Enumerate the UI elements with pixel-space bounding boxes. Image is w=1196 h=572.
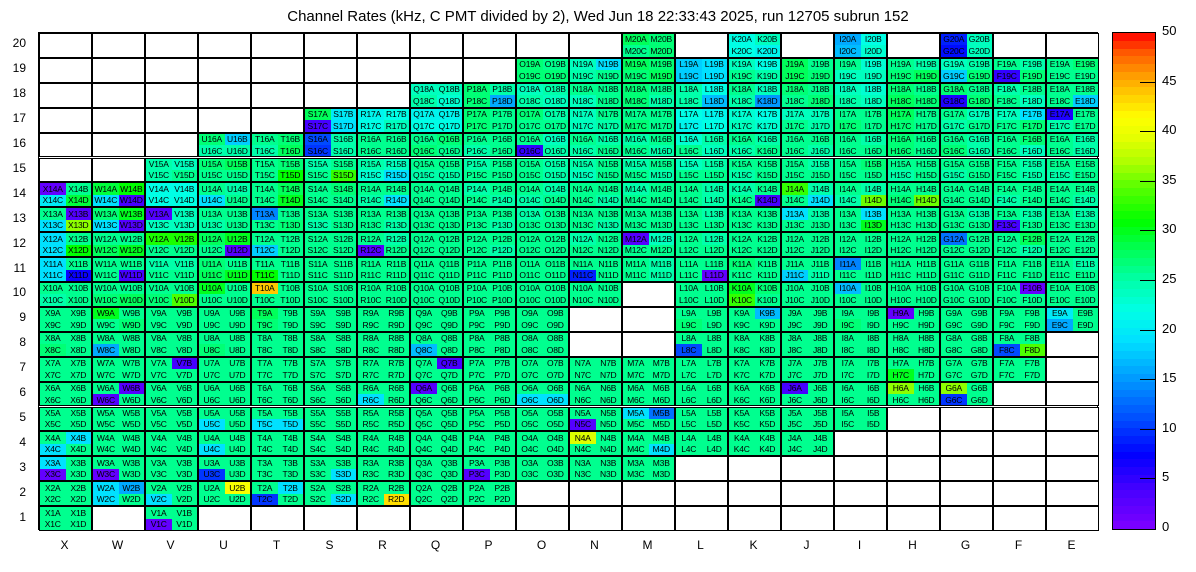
channel-T7C[interactable]: T7C (252, 369, 278, 380)
channel-X8D[interactable]: X8D (66, 344, 92, 355)
channel-K18D[interactable]: K18D (755, 95, 781, 106)
heatmap-cell-I11[interactable]: I11AI11BI11CI11D (834, 257, 887, 282)
channel-P9B[interactable]: P9B (490, 308, 516, 319)
heatmap-cell-L8[interactable]: L8AL8BL8CL8D (675, 332, 728, 357)
heatmap-cell-X12[interactable]: X12AX12BX12CX12D (39, 232, 92, 257)
channel-S17D[interactable]: S17D (331, 120, 357, 131)
channel-E9C[interactable]: E9C (1047, 319, 1073, 330)
channel-H11D[interactable]: H11D (914, 270, 940, 281)
channel-Q12B[interactable]: Q12B (437, 233, 463, 244)
channel-S14B[interactable]: S14B (331, 183, 357, 194)
channel-T16A[interactable]: T16A (252, 134, 278, 145)
channel-E14C[interactable]: E14C (1047, 195, 1073, 206)
channel-R3C[interactable]: R3C (358, 469, 384, 480)
channel-M19C[interactable]: M19C (623, 70, 649, 81)
channel-S15D[interactable]: S15D (331, 170, 357, 181)
channel-X1D[interactable]: X1D (66, 519, 92, 530)
channel-H19D[interactable]: H19D (914, 70, 940, 81)
channel-O9D[interactable]: O9D (543, 319, 569, 330)
heatmap-cell-X14[interactable]: X14AX14BX14CX14D (39, 182, 92, 207)
channel-P16B[interactable]: P16B (490, 134, 516, 145)
channel-U8C[interactable]: U8C (199, 344, 225, 355)
channel-V8D[interactable]: V8D (172, 344, 198, 355)
channel-U16B[interactable]: U16B (225, 134, 251, 145)
heatmap-cell-Q15[interactable]: Q15AQ15BQ15CQ15D (410, 158, 463, 183)
channel-R2C[interactable]: R2C (358, 494, 384, 505)
channel-O6B[interactable]: O6B (543, 383, 569, 394)
channel-L17A[interactable]: L17A (676, 109, 702, 120)
channel-L9B[interactable]: L9B (702, 308, 728, 319)
channel-Q6C[interactable]: Q6C (411, 394, 437, 405)
channel-U12B[interactable]: U12B (225, 233, 251, 244)
heatmap-cell-N3[interactable]: N3AN3BN3CN3D (569, 456, 622, 481)
channel-T16D[interactable]: T16D (278, 145, 304, 156)
channel-V3C[interactable]: V3C (146, 469, 172, 480)
channel-P13C[interactable]: P13C (464, 220, 490, 231)
channel-P12D[interactable]: P12D (490, 245, 516, 256)
channel-P8D[interactable]: P8D (490, 344, 516, 355)
channel-X3C[interactable]: X3C (40, 469, 66, 480)
channel-O14C[interactable]: O14C (517, 195, 543, 206)
channel-O4C[interactable]: O4C (517, 444, 543, 455)
channel-E10A[interactable]: E10A (1047, 283, 1073, 294)
channel-J13B[interactable]: J13B (808, 208, 834, 219)
channel-X13D[interactable]: X13D (66, 220, 92, 231)
channel-F12B[interactable]: F12B (1020, 233, 1046, 244)
channel-J4B[interactable]: J4B (808, 432, 834, 443)
heatmap-cell-J17[interactable]: J17AJ17BJ17CJ17D (781, 108, 834, 133)
channel-I13A[interactable]: I13A (835, 208, 861, 219)
channel-K5C[interactable]: K5C (729, 419, 755, 430)
channel-M6A[interactable]: M6A (623, 383, 649, 394)
channel-V11D[interactable]: V11D (172, 270, 198, 281)
heatmap-cell-E3[interactable] (1046, 456, 1099, 481)
channel-Q18B[interactable]: Q18B (437, 84, 463, 95)
channel-H15D[interactable]: H15D (914, 170, 940, 181)
channel-W2A[interactable]: W2A (93, 482, 119, 493)
channel-M11A[interactable]: M11A (623, 258, 649, 269)
channel-H11B[interactable]: H11B (914, 258, 940, 269)
channel-W7C[interactable]: W7C (93, 369, 119, 380)
channel-V14A[interactable]: V14A (146, 183, 172, 194)
channel-V5A[interactable]: V5A (146, 408, 172, 419)
heatmap-cell-S17[interactable]: S17AS17BS17CS17D (304, 108, 357, 133)
channel-I10D[interactable]: I10D (861, 294, 887, 305)
channel-K15B[interactable]: K15B (755, 159, 781, 170)
heatmap-cell-V8[interactable]: V8AV8BV8CV8D (145, 332, 198, 357)
channel-S2C[interactable]: S2C (305, 494, 331, 505)
heatmap-cell-V1[interactable]: V1AV1BV1CV1D (145, 506, 198, 531)
channel-X11D[interactable]: X11D (66, 270, 92, 281)
channel-P10D[interactable]: P10D (490, 294, 516, 305)
channel-L7C[interactable]: L7C (676, 369, 702, 380)
channel-X11B[interactable]: X11B (66, 258, 92, 269)
channel-W14A[interactable]: W14A (93, 183, 119, 194)
heatmap-cell-I5[interactable]: I5AI5BI5CI5D (834, 407, 887, 432)
heatmap-cell-X9[interactable]: X9AX9BX9CX9D (39, 307, 92, 332)
heatmap-cell-T14[interactable]: T14AT14BT14CT14D (251, 182, 304, 207)
heatmap-cell-I2[interactable] (834, 481, 887, 506)
heatmap-cell-P11[interactable]: P11AP11BP11CP11D (463, 257, 516, 282)
channel-T15A[interactable]: T15A (252, 159, 278, 170)
heatmap-cell-X20[interactable] (39, 33, 92, 58)
channel-I5C[interactable]: I5C (835, 419, 861, 430)
heatmap-cell-L11[interactable]: L11AL11BL11CL11D (675, 257, 728, 282)
channel-M20B[interactable]: M20B (649, 34, 675, 45)
channel-V15C[interactable]: V15C (146, 170, 172, 181)
channel-T2B[interactable]: T2B (278, 482, 304, 493)
heatmap-cell-W9[interactable]: W9AW9BW9CW9D (92, 307, 145, 332)
heatmap-cell-O16[interactable]: O16AO16BO16CO16D (516, 133, 569, 158)
channel-G18C[interactable]: G18C (941, 95, 967, 106)
channel-K4D[interactable]: K4D (755, 444, 781, 455)
channel-O11C[interactable]: O11C (517, 270, 543, 281)
channel-I8A[interactable]: I8A (835, 333, 861, 344)
channel-L5B[interactable]: L5B (702, 408, 728, 419)
channel-N18B[interactable]: N18B (596, 84, 622, 95)
channel-M7A[interactable]: M7A (623, 358, 649, 369)
channel-O5A[interactable]: O5A (517, 408, 543, 419)
channel-I7B[interactable]: I7B (861, 358, 887, 369)
channel-T3B[interactable]: T3B (278, 457, 304, 468)
channel-J6A[interactable]: J6A (782, 383, 808, 394)
channel-O11A[interactable]: O11A (517, 258, 543, 269)
channel-J12D[interactable]: J12D (808, 245, 834, 256)
channel-M15A[interactable]: M15A (623, 159, 649, 170)
channel-J19D[interactable]: J19D (808, 70, 834, 81)
channel-P14B[interactable]: P14B (490, 183, 516, 194)
heatmap-cell-S7[interactable]: S7AS7BS7CS7D (304, 357, 357, 382)
heatmap-cell-L13[interactable]: L13AL13BL13CL13D (675, 207, 728, 232)
channel-S17A[interactable]: S17A (305, 109, 331, 120)
channel-F19C[interactable]: F19C (994, 70, 1020, 81)
channel-Q2A[interactable]: Q2A (411, 482, 437, 493)
channel-U9C[interactable]: U9C (199, 319, 225, 330)
channel-G14C[interactable]: G14C (941, 195, 967, 206)
heatmap-cell-F18[interactable]: F18AF18BF18CF18D (993, 83, 1046, 108)
channel-O13A[interactable]: O13A (517, 208, 543, 219)
heatmap-cell-H4[interactable] (887, 431, 940, 456)
channel-M6B[interactable]: M6B (649, 383, 675, 394)
channel-J11D[interactable]: J11D (808, 270, 834, 281)
channel-T14D[interactable]: T14D (278, 195, 304, 206)
channel-W8B[interactable]: W8B (119, 333, 145, 344)
channel-X11C[interactable]: X11C (40, 270, 66, 281)
channel-X8C[interactable]: X8C (40, 344, 66, 355)
heatmap-cell-R18[interactable] (357, 83, 410, 108)
channel-R10D[interactable]: R10D (384, 294, 410, 305)
channel-U8D[interactable]: U8D (225, 344, 251, 355)
channel-J5A[interactable]: J5A (782, 408, 808, 419)
channel-I17A[interactable]: I17A (835, 109, 861, 120)
channel-Q2C[interactable]: Q2C (411, 494, 437, 505)
channel-V4B[interactable]: V4B (172, 432, 198, 443)
heatmap-cell-G16[interactable]: G16AG16BG16CG16D (940, 133, 993, 158)
channel-Q14C[interactable]: Q14C (411, 195, 437, 206)
channel-F17B[interactable]: F17B (1020, 109, 1046, 120)
channel-G12C[interactable]: G12C (941, 245, 967, 256)
channel-O8D[interactable]: O8D (543, 344, 569, 355)
channel-Q9D[interactable]: Q9D (437, 319, 463, 330)
heatmap-cell-T3[interactable]: T3AT3BT3CT3D (251, 456, 304, 481)
channel-T10B[interactable]: T10B (278, 283, 304, 294)
channel-W2B[interactable]: W2B (119, 482, 145, 493)
channel-R6D[interactable]: R6D (384, 394, 410, 405)
channel-G20D[interactable]: G20D (967, 45, 993, 56)
channel-H6C[interactable]: H6C (888, 394, 914, 405)
heatmap-cell-I18[interactable]: I18AI18BI18CI18D (834, 83, 887, 108)
channel-I5A[interactable]: I5A (835, 408, 861, 419)
channel-Q13D[interactable]: Q13D (437, 220, 463, 231)
channel-R17A[interactable]: R17A (358, 109, 384, 120)
heatmap-cell-S6[interactable]: S6AS6BS6CS6D (304, 382, 357, 407)
channel-M3D[interactable]: M3D (649, 469, 675, 480)
channel-S8D[interactable]: S8D (331, 344, 357, 355)
heatmap-cell-X5[interactable]: X5AX5BX5CX5D (39, 407, 92, 432)
channel-G9D[interactable]: G9D (967, 319, 993, 330)
heatmap-cell-G17[interactable]: G17AG17BG17CG17D (940, 108, 993, 133)
heatmap-cell-X6[interactable]: X6AX6BX6CX6D (39, 382, 92, 407)
channel-G20A[interactable]: G20A (941, 34, 967, 45)
channel-K18C[interactable]: K18C (729, 95, 755, 106)
heatmap-cell-G2[interactable] (940, 481, 993, 506)
channel-N3A[interactable]: N3A (570, 457, 596, 468)
channel-H8B[interactable]: H8B (914, 333, 940, 344)
heatmap-cell-H18[interactable]: H18AH18BH18CH18D (887, 83, 940, 108)
heatmap-cell-L17[interactable]: L17AL17BL17CL17D (675, 108, 728, 133)
channel-O7D[interactable]: O7D (543, 369, 569, 380)
channel-T9B[interactable]: T9B (278, 308, 304, 319)
channel-G17C[interactable]: G17C (941, 120, 967, 131)
channel-E11C[interactable]: E11C (1047, 270, 1073, 281)
channel-U9B[interactable]: U9B (225, 308, 251, 319)
heatmap-cell-R15[interactable]: R15AR15BR15CR15D (357, 158, 410, 183)
channel-F7B[interactable]: F7B (1020, 358, 1046, 369)
channel-M19D[interactable]: M19D (649, 70, 675, 81)
heatmap-cell-T5[interactable]: T5AT5BT5CT5D (251, 407, 304, 432)
channel-W4C[interactable]: W4C (93, 444, 119, 455)
channel-I15D[interactable]: I15D (861, 170, 887, 181)
channel-Q2B[interactable]: Q2B (437, 482, 463, 493)
channel-V7B[interactable]: V7B (172, 358, 198, 369)
channel-X7C[interactable]: X7C (40, 369, 66, 380)
channel-X11A[interactable]: X11A (40, 258, 66, 269)
channel-I9D[interactable]: I9D (861, 319, 887, 330)
channel-X5B[interactable]: X5B (66, 408, 92, 419)
channel-N6D[interactable]: N6D (596, 394, 622, 405)
heatmap-cell-G19[interactable]: G19AG19BG19CG19D (940, 58, 993, 83)
channel-Q4B[interactable]: Q4B (437, 432, 463, 443)
channel-U2B[interactable]: U2B (225, 482, 251, 493)
channel-U16C[interactable]: U16C (199, 145, 225, 156)
channel-N3C[interactable]: N3C (570, 469, 596, 480)
channel-P14D[interactable]: P14D (490, 195, 516, 206)
channel-I11A[interactable]: I11A (835, 258, 861, 269)
channel-M19A[interactable]: M19A (623, 59, 649, 70)
heatmap-cell-R2[interactable]: R2AR2BR2CR2D (357, 481, 410, 506)
channel-Q12A[interactable]: Q12A (411, 233, 437, 244)
heatmap-cell-M10[interactable] (622, 282, 675, 307)
channel-I16A[interactable]: I16A (835, 134, 861, 145)
channel-M17A[interactable]: M17A (623, 109, 649, 120)
channel-U14D[interactable]: U14D (225, 195, 251, 206)
channel-S10A[interactable]: S10A (305, 283, 331, 294)
heatmap-cell-F7[interactable]: F7AF7BF7CF7D (993, 357, 1046, 382)
channel-X2A[interactable]: X2A (40, 482, 66, 493)
channel-J17C[interactable]: J17C (782, 120, 808, 131)
channel-P6C[interactable]: P6C (464, 394, 490, 405)
channel-M5B[interactable]: M5B (649, 408, 675, 419)
heatmap-cell-E11[interactable]: E11AE11BE11CE11D (1046, 257, 1099, 282)
channel-X3D[interactable]: X3D (66, 469, 92, 480)
heatmap-cell-O18[interactable]: O18AO18BO18CO18D (516, 83, 569, 108)
channel-I12A[interactable]: I12A (835, 233, 861, 244)
channel-N14C[interactable]: N14C (570, 195, 596, 206)
channel-S11A[interactable]: S11A (305, 258, 331, 269)
heatmap-cell-O12[interactable]: O12AO12BO12CO12D (516, 232, 569, 257)
channel-K8D[interactable]: K8D (755, 344, 781, 355)
heatmap-cell-H19[interactable]: H19AH19BH19CH19D (887, 58, 940, 83)
channel-P18D[interactable]: P18D (490, 95, 516, 106)
channel-F9B[interactable]: F9B (1020, 308, 1046, 319)
channel-W12A[interactable]: W12A (93, 233, 119, 244)
channel-X10D[interactable]: X10D (66, 294, 92, 305)
heatmap-cell-V15[interactable]: V15AV15BV15CV15D (145, 158, 198, 183)
channel-I8B[interactable]: I8B (861, 333, 887, 344)
channel-H13A[interactable]: H13A (888, 208, 914, 219)
heatmap-cell-X10[interactable]: X10AX10BX10CX10D (39, 282, 92, 307)
channel-I16D[interactable]: I16D (861, 145, 887, 156)
heatmap-cell-L14[interactable]: L14AL14BL14CL14D (675, 182, 728, 207)
heatmap-cell-X3[interactable]: X3AX3BX3CX3D (39, 456, 92, 481)
heatmap-cell-M13[interactable]: M13AM13BM13CM13D (622, 207, 675, 232)
channel-G15B[interactable]: G15B (967, 159, 993, 170)
channel-J18D[interactable]: J18D (808, 95, 834, 106)
channel-I13B[interactable]: I13B (861, 208, 887, 219)
channel-I15B[interactable]: I15B (861, 159, 887, 170)
heatmap-cell-T6[interactable]: T6AT6BT6CT6D (251, 382, 304, 407)
heatmap-cell-E16[interactable]: E16AE16BE16CE16D (1046, 133, 1099, 158)
heatmap-cell-M19[interactable]: M19AM19BM19CM19D (622, 58, 675, 83)
channel-M11D[interactable]: M11D (649, 270, 675, 281)
heatmap-cell-K17[interactable]: K17AK17BK17CK17D (728, 108, 781, 133)
channel-V6C[interactable]: V6C (146, 394, 172, 405)
heatmap-cell-F6[interactable] (993, 382, 1046, 407)
channel-O4A[interactable]: O4A (517, 432, 543, 443)
channel-Q8C[interactable]: Q8C (411, 344, 437, 355)
channel-F7A[interactable]: F7A (994, 358, 1020, 369)
channel-J18A[interactable]: J18A (782, 84, 808, 95)
channel-S12A[interactable]: S12A (305, 233, 331, 244)
channel-T2C[interactable]: T2C (252, 494, 278, 505)
heatmap-cell-T18[interactable] (251, 83, 304, 108)
heatmap-cell-U17[interactable] (198, 108, 251, 133)
heatmap-cell-O11[interactable]: O11AO11BO11CO11D (516, 257, 569, 282)
channel-G14A[interactable]: G14A (941, 183, 967, 194)
channel-W13B[interactable]: W13B (119, 208, 145, 219)
channel-L4B[interactable]: L4B (702, 432, 728, 443)
heatmap-cell-J15[interactable]: J15AJ15BJ15CJ15D (781, 158, 834, 183)
heatmap-cell-W5[interactable]: W5AW5BW5CW5D (92, 407, 145, 432)
channel-U4A[interactable]: U4A (199, 432, 225, 443)
channel-M14D[interactable]: M14D (649, 195, 675, 206)
channel-N6B[interactable]: N6B (596, 383, 622, 394)
channel-F8D[interactable]: F8D (1020, 344, 1046, 355)
heatmap-cell-I12[interactable]: I12AI12BI12CI12D (834, 232, 887, 257)
channel-W7B[interactable]: W7B (119, 358, 145, 369)
channel-E19B[interactable]: E19B (1073, 59, 1099, 70)
channel-F19B[interactable]: F19B (1020, 59, 1046, 70)
channel-F15C[interactable]: F15C (994, 170, 1020, 181)
channel-N5D[interactable]: N5D (596, 419, 622, 430)
channel-K16B[interactable]: K16B (755, 134, 781, 145)
channel-X14D[interactable]: X14D (66, 195, 92, 206)
heatmap-cell-M2[interactable] (622, 481, 675, 506)
channel-I20B[interactable]: I20B (861, 34, 887, 45)
channel-K6B[interactable]: K6B (755, 383, 781, 394)
channel-L4A[interactable]: L4A (676, 432, 702, 443)
channel-U4B[interactable]: U4B (225, 432, 251, 443)
heatmap-cell-O6[interactable]: O6AO6BO6CO6D (516, 382, 569, 407)
channel-K11C[interactable]: K11C (729, 270, 755, 281)
channel-H16D[interactable]: H16D (914, 145, 940, 156)
heatmap-cell-M12[interactable]: M12AM12BM12CM12D (622, 232, 675, 257)
channel-I17D[interactable]: I17D (861, 120, 887, 131)
channel-X10A[interactable]: X10A (40, 283, 66, 294)
heatmap-cell-R1[interactable] (357, 506, 410, 531)
channel-L14B[interactable]: L14B (702, 183, 728, 194)
channel-V8A[interactable]: V8A (146, 333, 172, 344)
heatmap-cell-H12[interactable]: H12AH12BH12CH12D (887, 232, 940, 257)
channel-P9C[interactable]: P9C (464, 319, 490, 330)
channel-K17B[interactable]: K17B (755, 109, 781, 120)
channel-Q3A[interactable]: Q3A (411, 457, 437, 468)
heatmap-cell-V18[interactable] (145, 83, 198, 108)
channel-Q3C[interactable]: Q3C (411, 469, 437, 480)
channel-J17D[interactable]: J17D (808, 120, 834, 131)
channel-H18A[interactable]: H18A (888, 84, 914, 95)
channel-L17D[interactable]: L17D (702, 120, 728, 131)
heatmap-cell-J9[interactable]: J9AJ9BJ9CJ9D (781, 307, 834, 332)
channel-P7C[interactable]: P7C (464, 369, 490, 380)
heatmap-cell-X4[interactable]: X4AX4BX4CX4D (39, 431, 92, 456)
channel-K5D[interactable]: K5D (755, 419, 781, 430)
channel-R2B[interactable]: R2B (384, 482, 410, 493)
channel-U10D[interactable]: U10D (225, 294, 251, 305)
channel-G10C[interactable]: G10C (941, 294, 967, 305)
heatmap-cell-U16[interactable]: U16AU16BU16CU16D (198, 133, 251, 158)
channel-V7C[interactable]: V7C (146, 369, 172, 380)
channel-H7C[interactable]: H7C (888, 369, 914, 380)
channel-J12C[interactable]: J12C (782, 245, 808, 256)
channel-M12C[interactable]: M12C (623, 245, 649, 256)
channel-K19B[interactable]: K19B (755, 59, 781, 70)
channel-G6B[interactable]: G6B (967, 383, 993, 394)
heatmap-cell-N6[interactable]: N6AN6BN6CN6D (569, 382, 622, 407)
channel-H12D[interactable]: H12D (914, 245, 940, 256)
channel-S16C[interactable]: S16C (305, 145, 331, 156)
channel-P9A[interactable]: P9A (464, 308, 490, 319)
channel-L18A[interactable]: L18A (676, 84, 702, 95)
channel-L13A[interactable]: L13A (676, 208, 702, 219)
channel-O12C[interactable]: O12C (517, 245, 543, 256)
channel-E14B[interactable]: E14B (1073, 183, 1099, 194)
channel-S15A[interactable]: S15A (305, 159, 331, 170)
heatmap-cell-G1[interactable] (940, 506, 993, 531)
heatmap-cell-K8[interactable]: K8AK8BK8CK8D (728, 332, 781, 357)
channel-J15C[interactable]: J15C (782, 170, 808, 181)
channel-K7B[interactable]: K7B (755, 358, 781, 369)
